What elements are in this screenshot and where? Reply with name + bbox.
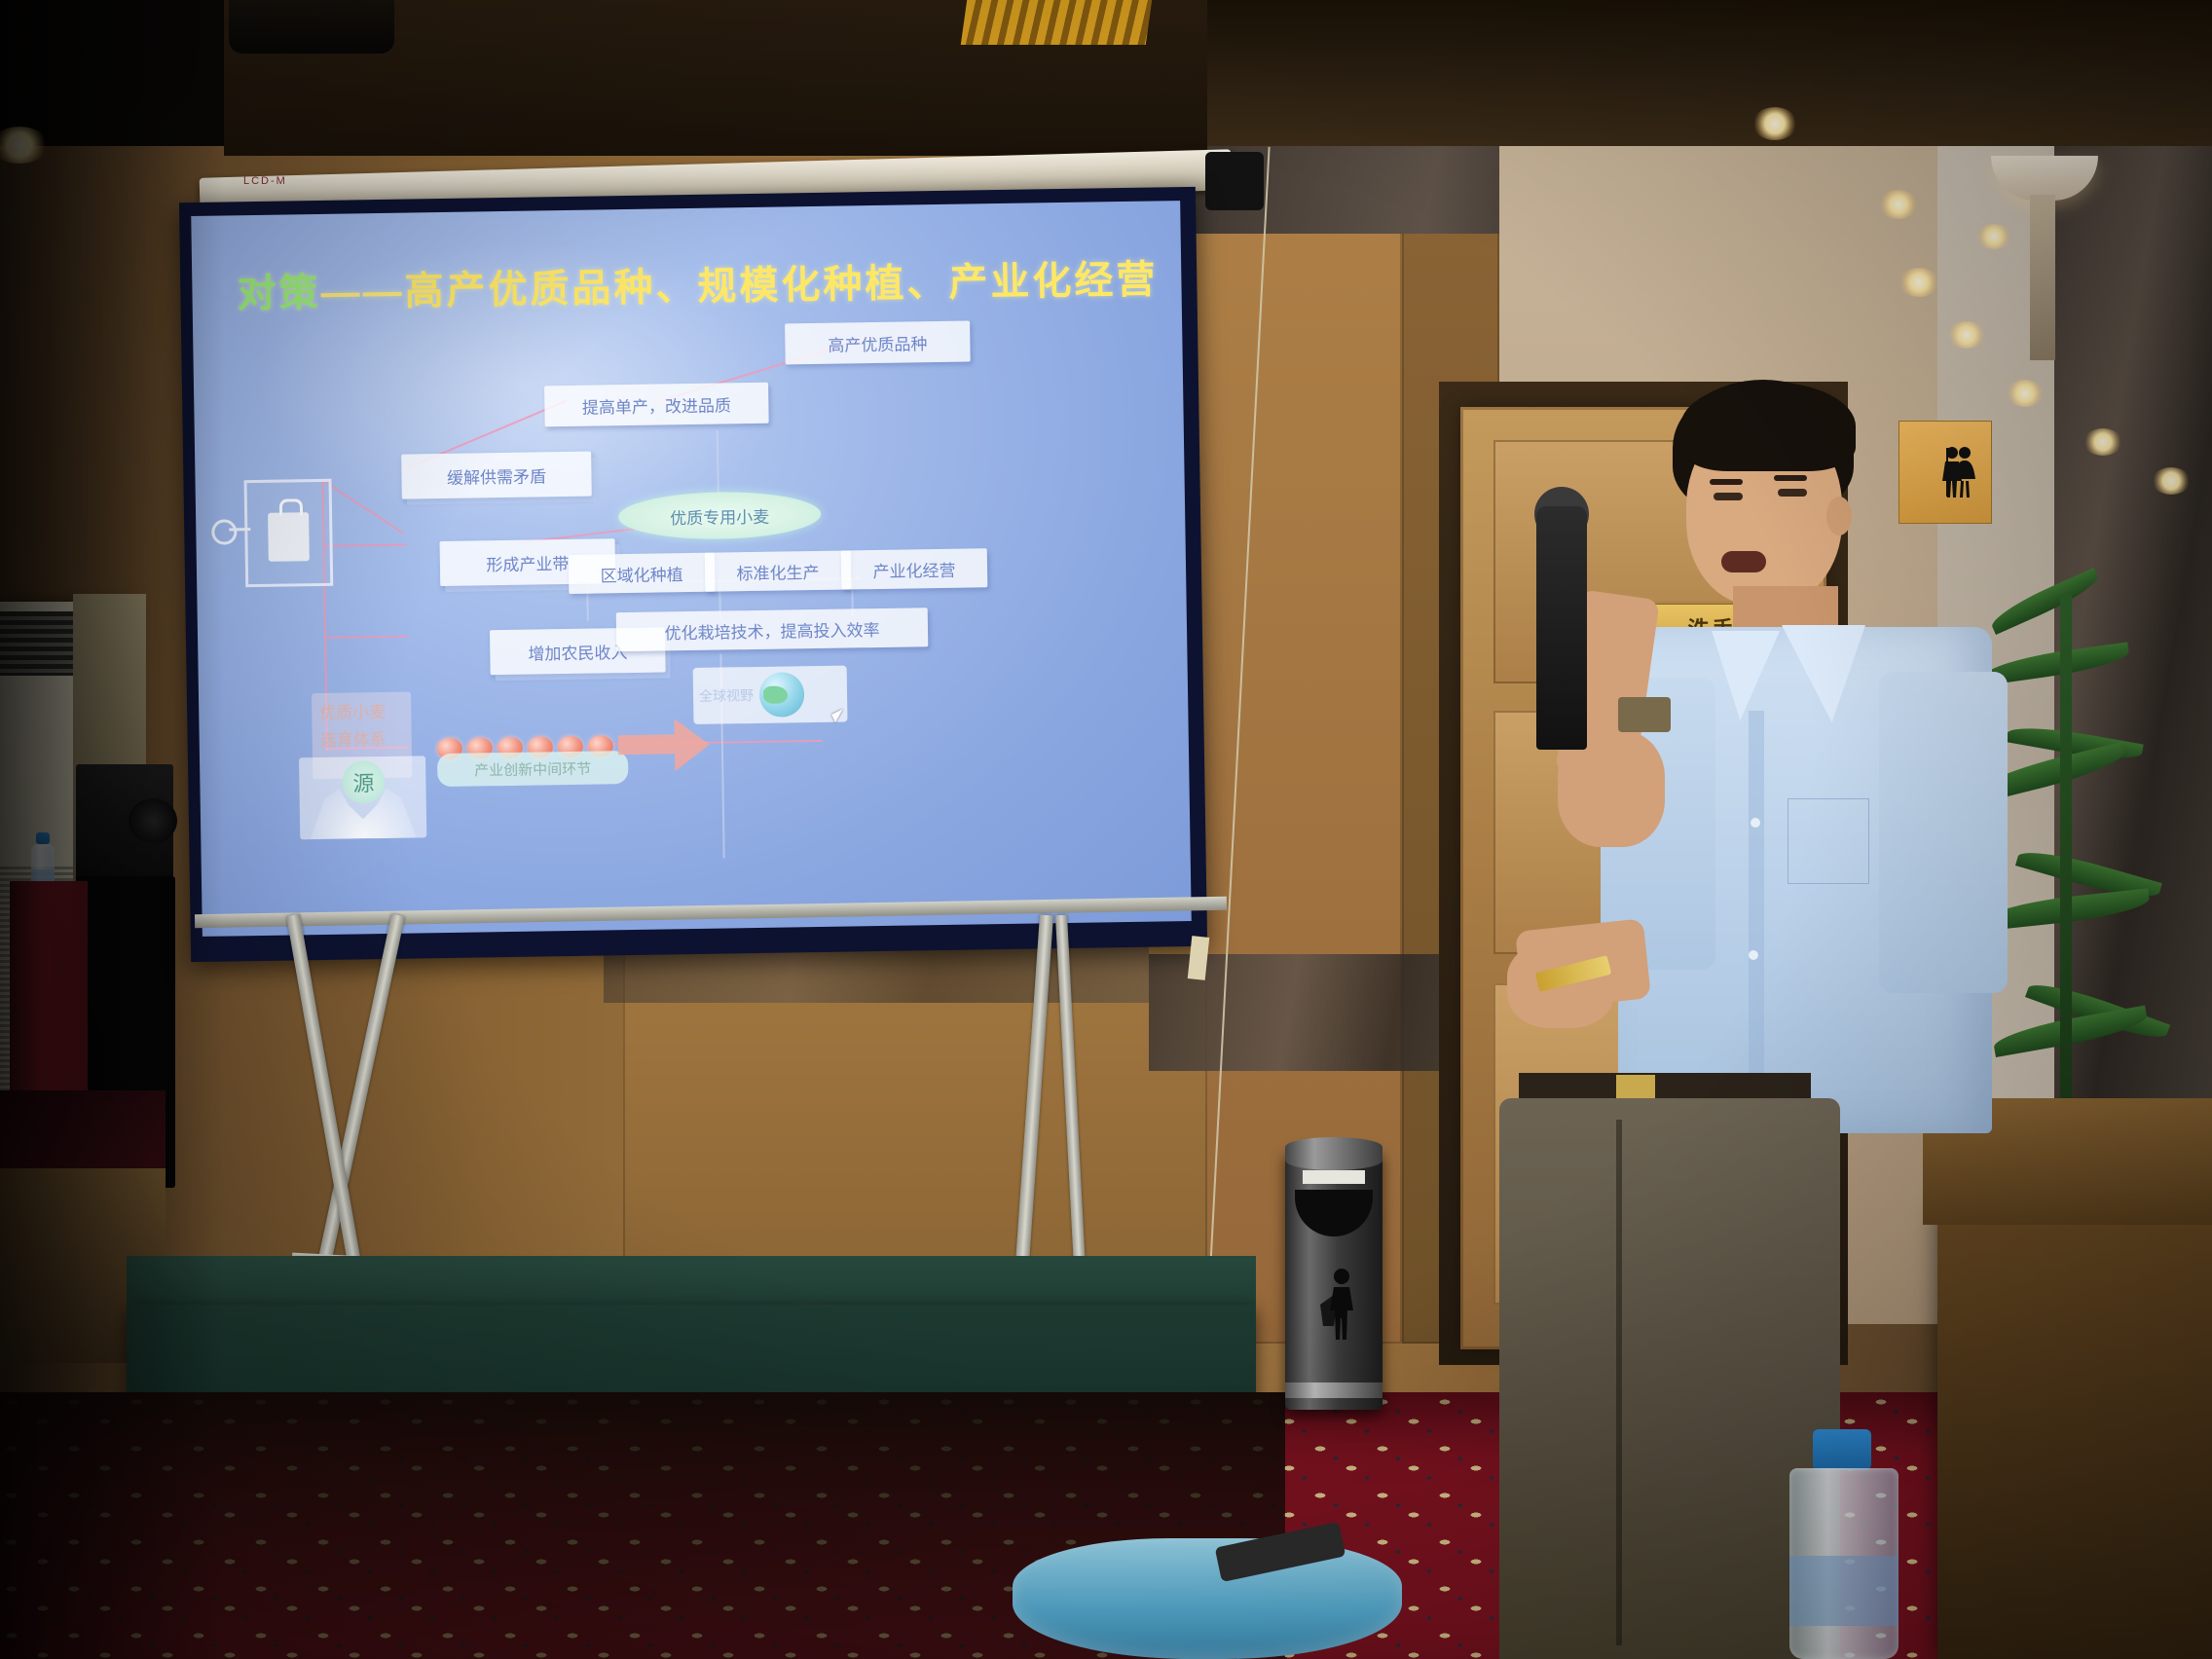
slide-center-oval: 优质专用小麦 bbox=[618, 491, 822, 540]
node-label: 优化栽培技术，提高投入效率 bbox=[664, 615, 879, 643]
projector-mount bbox=[229, 0, 394, 54]
presenter-trouser-crease bbox=[1616, 1120, 1622, 1645]
key-stem-icon bbox=[229, 528, 250, 531]
ceiling-light-7 bbox=[2152, 467, 2191, 495]
ceiling-light-2 bbox=[1752, 107, 1797, 140]
node-label: 增加农民收入 bbox=[528, 639, 627, 665]
gold-ceiling-detail bbox=[961, 0, 1152, 45]
slide-bottom-pill: 产业创新中间环节 bbox=[437, 751, 629, 787]
presenter-mouth bbox=[1721, 551, 1766, 572]
slide-title-lead: 对策 bbox=[237, 272, 321, 315]
bottle-cap-foreground bbox=[1813, 1429, 1871, 1470]
slide-big-arrow-icon bbox=[617, 717, 712, 775]
blue-bag[interactable] bbox=[1013, 1538, 1402, 1659]
presenter-eye-right bbox=[1778, 489, 1807, 497]
structure-line bbox=[717, 430, 719, 498]
wall-sconce-stem bbox=[2030, 195, 2055, 360]
plant-stem bbox=[2060, 594, 2072, 1100]
node-label: 区域化种植 bbox=[600, 561, 682, 586]
breeding-card-line1: 优质小麦 bbox=[319, 698, 386, 723]
presenter-sleeve-right bbox=[1879, 672, 2008, 993]
ceiling-light-9 bbox=[1976, 224, 2011, 249]
slide-node-high-yield-variety: 高产优质品种 bbox=[785, 320, 971, 364]
speaker-cone-icon bbox=[129, 798, 177, 843]
presenter-watch bbox=[1618, 697, 1671, 732]
presenter-hair-top bbox=[1680, 382, 1856, 471]
ceiling-light-8 bbox=[1879, 190, 1918, 219]
connector-line bbox=[323, 544, 407, 547]
presenter-shirt-pocket bbox=[1788, 798, 1869, 884]
node-label: 形成产业带 bbox=[486, 549, 569, 574]
trash-bin-litter-icon bbox=[1305, 1266, 1365, 1342]
globe-caption: 全球视野 bbox=[699, 685, 754, 706]
briefcase-handle-icon bbox=[279, 498, 303, 515]
breeding-card-line2: 选育体系 bbox=[319, 725, 386, 751]
slide-globe-card: 全球视野 bbox=[693, 666, 848, 724]
presenter-button bbox=[1751, 818, 1760, 828]
microphone[interactable] bbox=[1536, 506, 1587, 750]
briefcase-icon bbox=[268, 512, 310, 562]
presenter-ear bbox=[1826, 497, 1852, 535]
node-label: 缓解供需矛盾 bbox=[447, 462, 546, 489]
projection-screen: LCD-M 对策——高产优质品种、规模化种植、产业化经营 bbox=[185, 136, 1266, 954]
node-label: 标准化生产 bbox=[736, 558, 819, 583]
bottle-cap bbox=[36, 832, 50, 844]
trash-bin-base-band bbox=[1285, 1382, 1382, 1398]
node-label: 提高单产，改进品质 bbox=[582, 391, 731, 418]
water-bottle-foreground[interactable] bbox=[1772, 1429, 1918, 1659]
center-oval-label: 优质专用小麦 bbox=[670, 502, 769, 529]
source-circle-label: 源 bbox=[352, 766, 375, 797]
slide-node-ease-supply-demand: 缓解供需矛盾 bbox=[401, 452, 592, 499]
screen-surface: 对策——高产优质品种、规模化种植、产业化经营 高产优质品种 bbox=[191, 201, 1191, 937]
node-label: 产业化经营 bbox=[872, 556, 955, 581]
screen-brand-label: LCD-M bbox=[243, 175, 287, 187]
ceiling-light-3 bbox=[1899, 268, 1939, 297]
globe-icon bbox=[759, 672, 805, 718]
slide-node-industrial-operation: 产业化经营 bbox=[841, 548, 988, 589]
ceiling-light-4 bbox=[1947, 321, 1986, 349]
bottle-label-foreground bbox=[1789, 1556, 1899, 1626]
screen-roller-end-cap bbox=[1205, 152, 1264, 210]
trash-bin-top bbox=[1285, 1137, 1382, 1170]
connector-line bbox=[321, 479, 404, 534]
slide-title-rest: 高产优质品种、规模化种植、产业化经营 bbox=[404, 258, 1159, 313]
presenter-brow-left bbox=[1710, 479, 1743, 485]
photo-scene: 洗手间 TOILET bbox=[0, 0, 2212, 1659]
slide-title-dash: —— bbox=[320, 271, 405, 314]
presenter-brow-right bbox=[1774, 475, 1807, 481]
node-label: 高产优质品种 bbox=[828, 330, 927, 356]
slide-node-regional-planting: 区域化种植 bbox=[569, 553, 716, 594]
slide-node-standard-production: 标准化生产 bbox=[705, 550, 852, 591]
pill-label: 产业创新中间环节 bbox=[474, 757, 591, 780]
presenter-button bbox=[1749, 950, 1758, 960]
connector-line bbox=[324, 636, 408, 639]
ceiling-light-6 bbox=[2083, 428, 2122, 456]
slide-node-improve-yield: 提高单产，改进品质 bbox=[544, 383, 769, 427]
trash-bin-label bbox=[1303, 1170, 1365, 1184]
presenter-eye-left bbox=[1714, 493, 1743, 500]
key-icon bbox=[211, 519, 237, 544]
slide-title: 对策——高产优质品种、规模化种植、产业化经营 bbox=[237, 247, 1159, 318]
cursor-arrow-icon bbox=[831, 709, 847, 722]
slide-node-optimize-technique: 优化栽培技术，提高投入效率 bbox=[616, 608, 929, 651]
presenter-placket bbox=[1749, 711, 1764, 1120]
